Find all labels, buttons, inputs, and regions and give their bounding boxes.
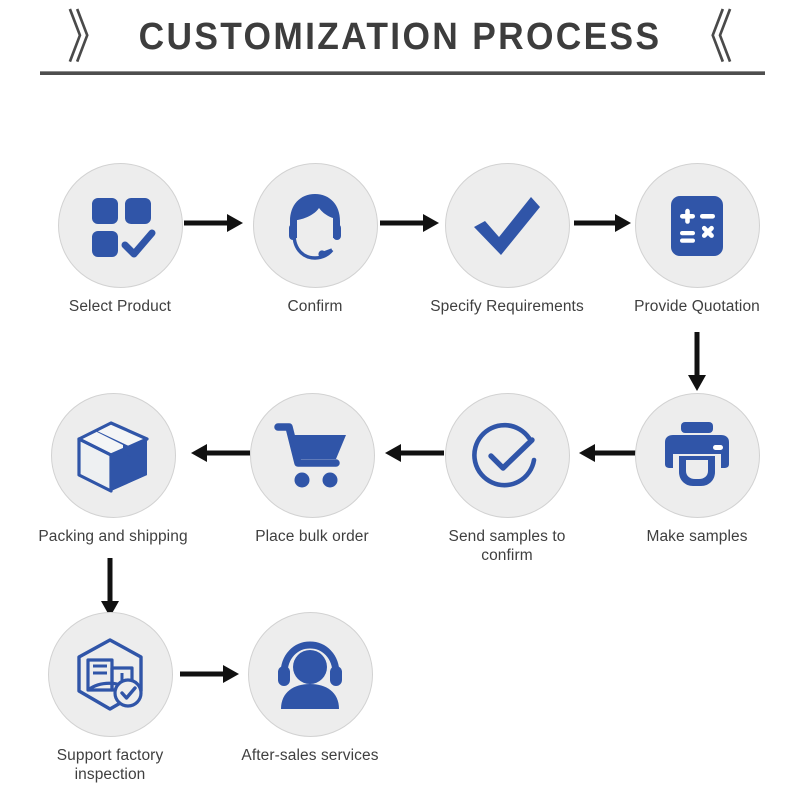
step-send-samples-to-confirm[interactable]: Send samples to confirm <box>422 393 592 566</box>
page-title: CUSTOMIZATION PROCESS <box>139 16 662 59</box>
step-label: Place bulk order <box>227 527 397 546</box>
headset-agent-icon <box>277 188 353 264</box>
step-icon-circle <box>635 393 760 518</box>
printer-icon <box>659 420 735 492</box>
step-label: Select Product <box>35 297 205 316</box>
step-icon-circle <box>445 163 570 288</box>
step-label: Confirm <box>230 297 400 316</box>
page-header: 》 CUSTOMIZATION PROCESS 《 <box>0 0 800 95</box>
step-make-samples[interactable]: Make samples <box>612 393 782 546</box>
calculator-icon <box>664 193 730 259</box>
chevron-left-decoration-icon: 《 <box>687 8 733 66</box>
step-label: Specify Requirements <box>422 297 592 316</box>
step-icon-circle <box>250 393 375 518</box>
grid-check-icon <box>84 190 156 262</box>
circle-check-icon <box>469 418 545 494</box>
chevron-right-decoration-icon: 》 <box>67 8 113 66</box>
step-icon-circle <box>253 163 378 288</box>
step-label: Make samples <box>612 527 782 546</box>
title-divider <box>40 71 765 75</box>
step-specify-requirements[interactable]: Specify Requirements <box>422 163 592 316</box>
step-icon-circle <box>51 393 176 518</box>
package-box-icon <box>73 417 153 495</box>
step-icon-circle <box>248 612 373 737</box>
step-label: Support factory inspection <box>25 746 195 785</box>
step-select-product[interactable]: Select Product <box>35 163 205 316</box>
arrow-row1-to-row2 <box>686 332 708 392</box>
step-icon-circle <box>635 163 760 288</box>
step-label: After-sales services <box>225 746 395 765</box>
support-person-icon <box>272 638 348 712</box>
factory-inspection-icon <box>70 635 150 715</box>
step-icon-circle <box>58 163 183 288</box>
step-after-sales-services[interactable]: After-sales services <box>225 612 395 765</box>
checkmark-icon <box>468 187 546 265</box>
arrow-row2-to-row3 <box>99 558 121 618</box>
step-provide-quotation[interactable]: Provide Quotation <box>612 163 782 316</box>
title-row: 》 CUSTOMIZATION PROCESS 《 <box>0 8 800 66</box>
step-place-bulk-order[interactable]: Place bulk order <box>227 393 397 546</box>
step-packing-and-shipping[interactable]: Packing and shipping <box>28 393 198 546</box>
step-support-factory-inspection[interactable]: Support factory inspection <box>25 612 195 785</box>
step-icon-circle <box>48 612 173 737</box>
step-label: Packing and shipping <box>28 527 198 546</box>
shopping-cart-icon <box>274 421 350 491</box>
step-label: Provide Quotation <box>612 297 782 316</box>
step-confirm[interactable]: Confirm <box>230 163 400 316</box>
step-label: Send samples to confirm <box>422 527 592 566</box>
step-icon-circle <box>445 393 570 518</box>
